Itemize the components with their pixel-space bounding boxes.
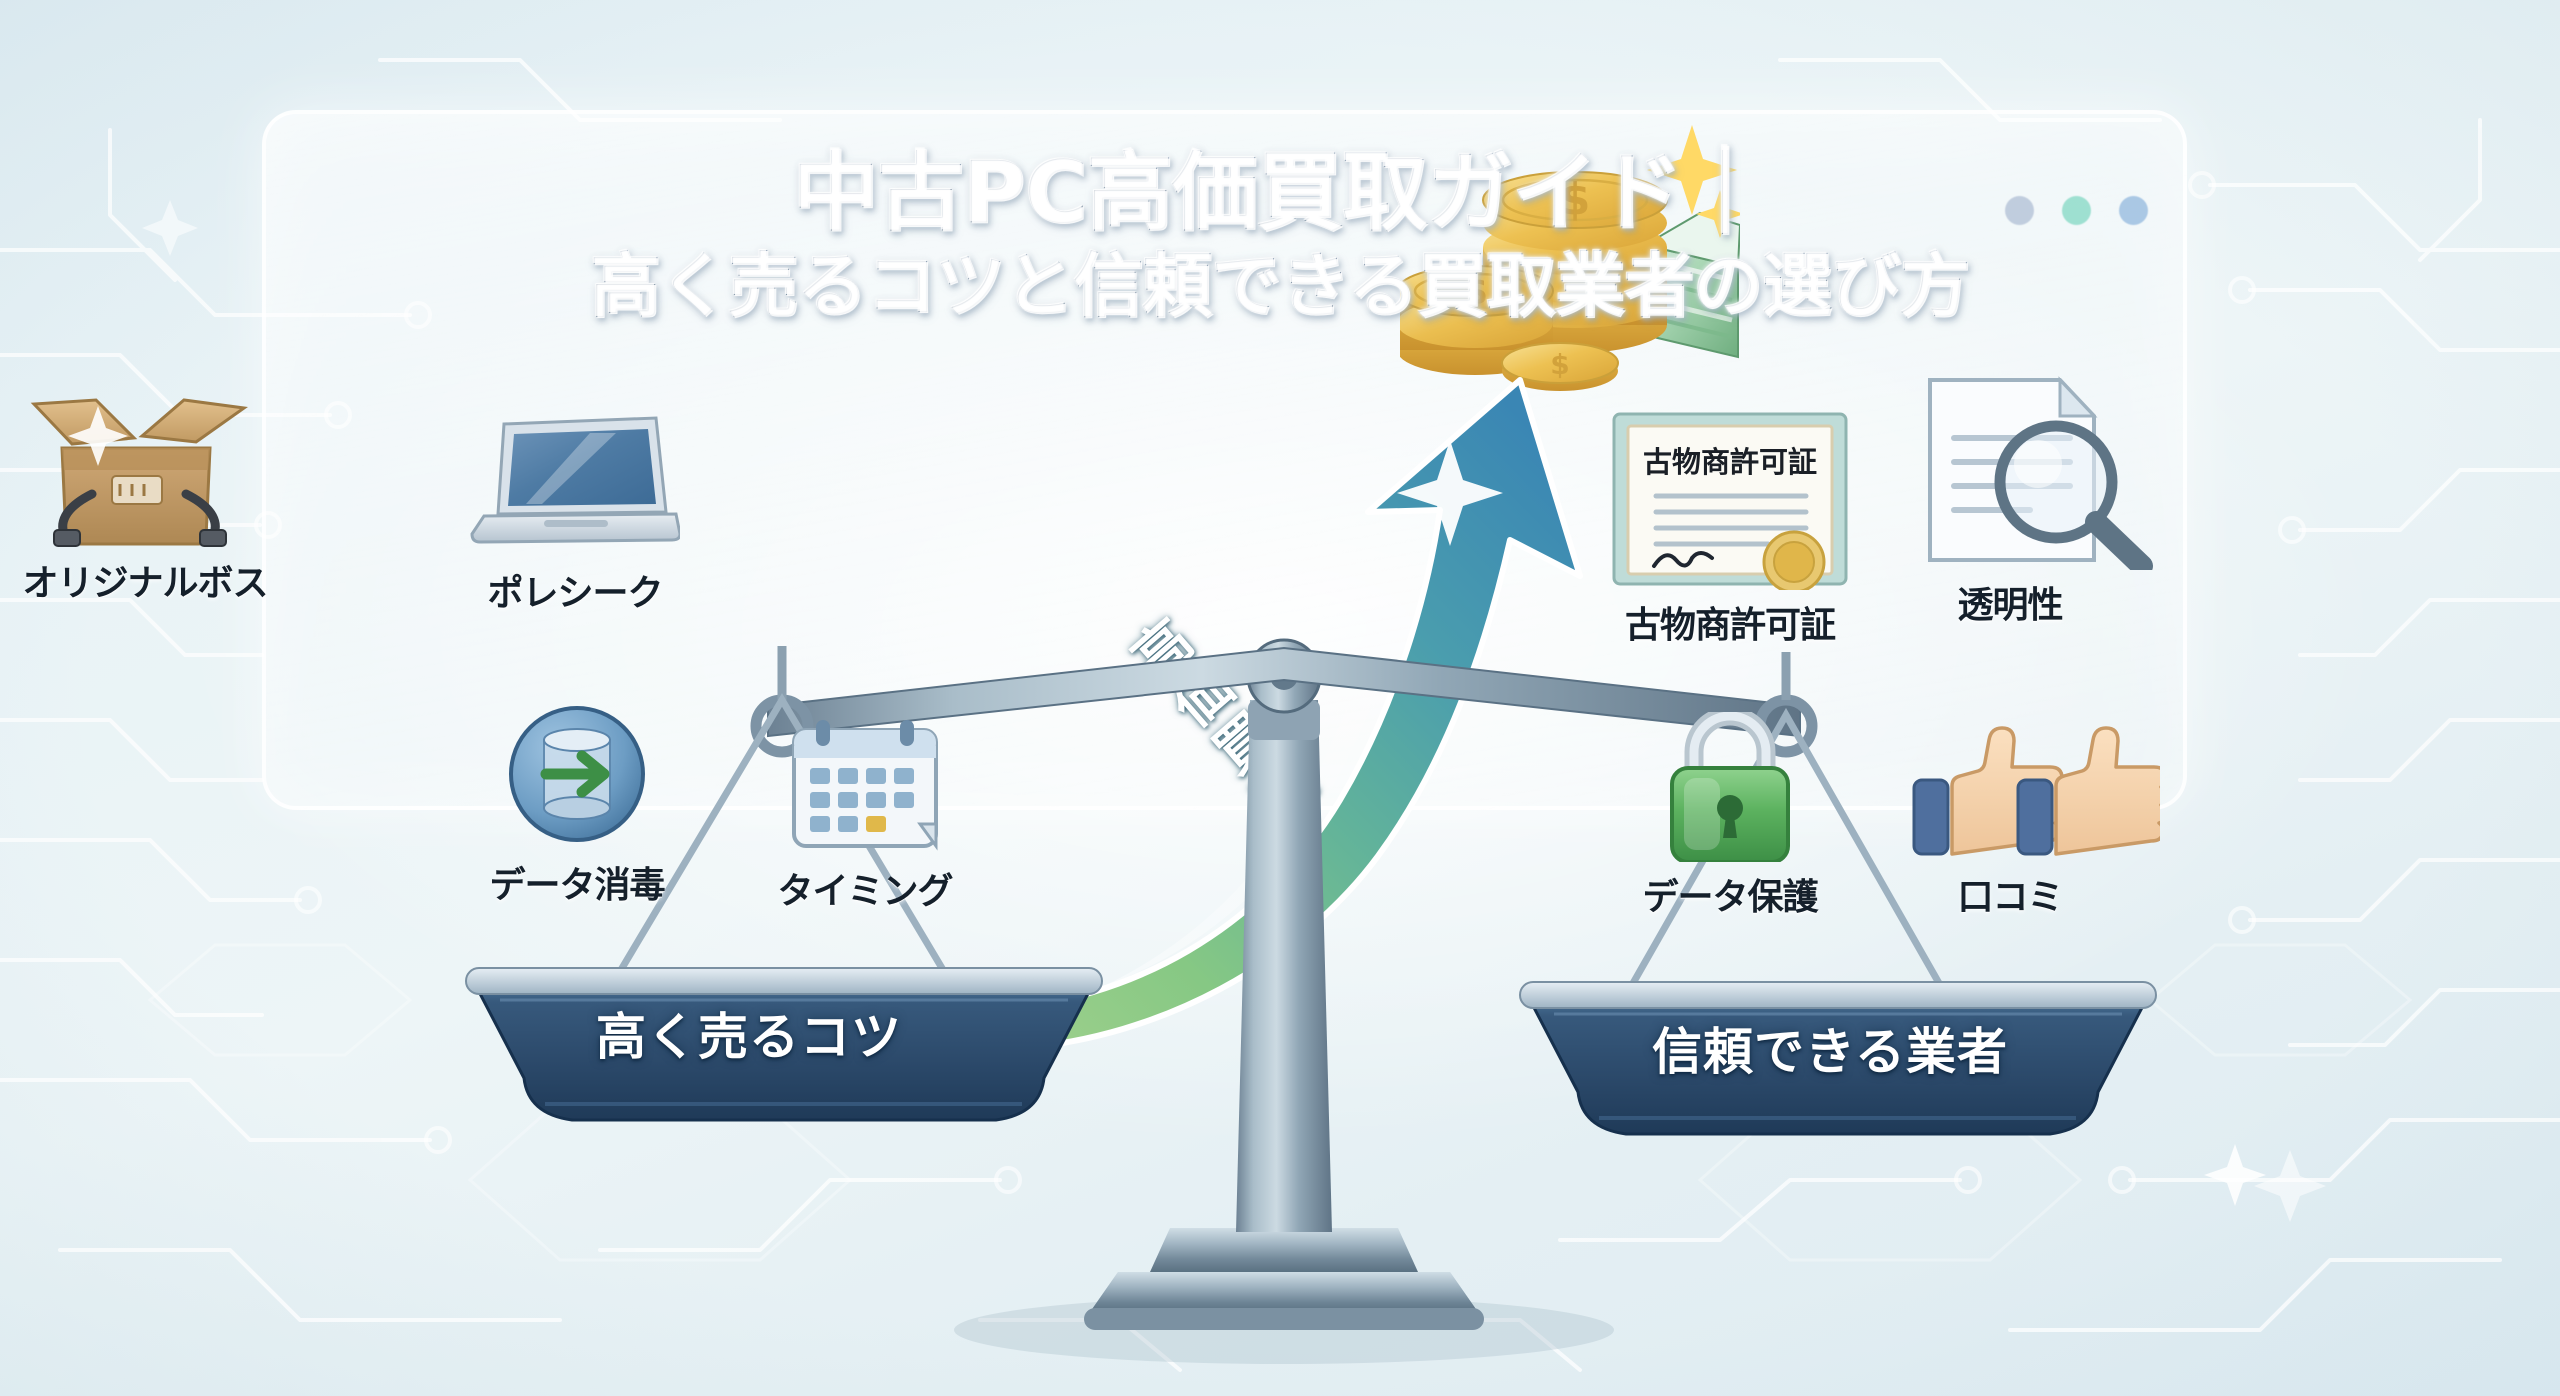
right-pan-label: 信頼できる業者 [1652,1012,2008,1084]
window-dots [2005,196,2148,225]
svg-text:$: $ [1560,174,1591,225]
box-cables-icon [0,398,290,548]
dot-green-icon [2062,196,2091,225]
svg-text:$: $ [1462,269,1488,313]
left-pan-label: 高く売るコツ [596,997,902,1069]
feature-transparency: 透明性 [1860,420,2160,628]
feature-timing: タイミング [760,706,970,914]
document-magnifier-icon [1860,420,2160,570]
feature-caption: データ消毒 [472,856,682,908]
data-erase-icon [472,700,682,850]
feature-data-erase: データ消毒 [472,700,682,908]
money-illustration: $ $ $ [1400,95,1740,395]
gold-seal-icon [1764,532,1824,590]
feature-license: 古物商許可証 古物商許可証 [1580,440,1880,648]
feature-caption: オリジナルボス [0,554,290,606]
feature-caption: タイミング [760,862,970,914]
feature-caption: 古物商許可証 [1580,596,1880,648]
feature-laptop: ポレシーク [470,408,680,616]
calendar-icon [760,706,970,856]
dot-blue-icon [2119,196,2148,225]
feature-reviews: 口コミ [1860,712,2160,920]
feature-data-protection: データ保護 [1580,712,1880,920]
feature-box: オリジナルボス [0,398,290,606]
feature-caption: 透明性 [1860,576,2160,628]
thumb-2 [2018,728,2160,854]
feature-caption: 口コミ [1860,868,2160,920]
feature-caption: ポレシーク [470,564,680,616]
padlock-icon [1580,712,1880,862]
thumbs-up-icon [1860,712,2160,862]
certificate-heading: 古物商許可証 [1643,445,1817,479]
certificate-icon: 古物商許可証 [1580,440,1880,590]
dot-gray-icon [2005,196,2034,225]
feature-caption: データ保護 [1580,868,1880,920]
laptop-icon [470,408,680,558]
